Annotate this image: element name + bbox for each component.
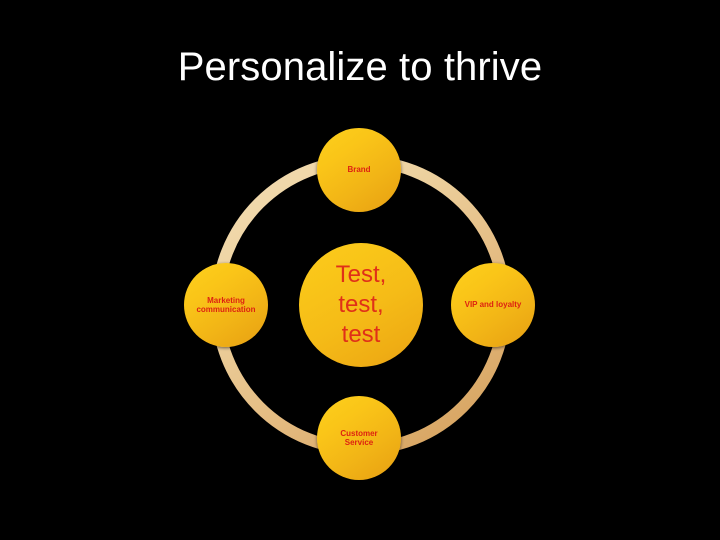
node-hub-label: Test, test, test [332,260,391,351]
slide-canvas: Personalize to thrive Brand Marketing co… [0,0,720,540]
node-hub[interactable]: Test, test, test [299,243,423,367]
node-marketing-communication[interactable]: Marketing communication [184,263,268,347]
node-customer-service-label: Customer Service [336,429,381,448]
node-brand[interactable]: Brand [317,128,401,212]
node-customer-service[interactable]: Customer Service [317,396,401,480]
node-brand-label: Brand [343,165,374,174]
node-marketing-communication-label: Marketing communication [192,296,259,315]
cycle-diagram: Brand Marketing communication VIP and lo… [0,0,720,540]
node-vip-and-loyalty-label: VIP and loyalty [461,300,526,309]
node-vip-and-loyalty[interactable]: VIP and loyalty [451,263,535,347]
